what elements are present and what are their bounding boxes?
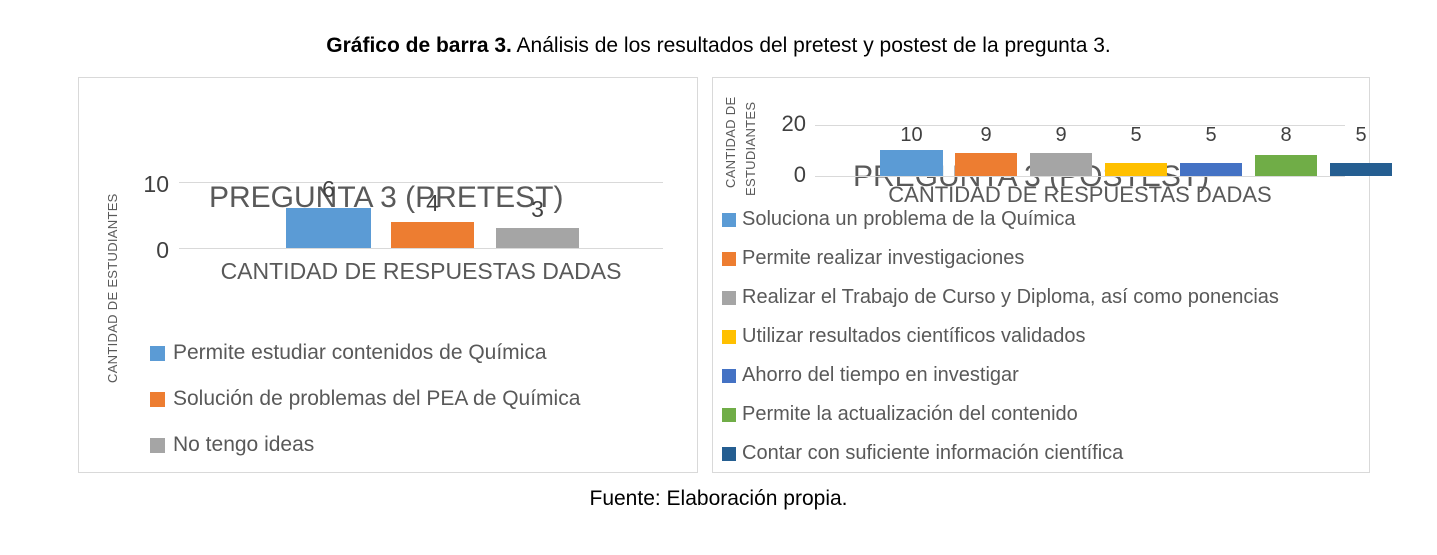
axis-baseline-pretest bbox=[179, 248, 663, 249]
legend-swatch-icon bbox=[150, 392, 165, 407]
legend-item-pretest-1[interactable]: Permite estudiar contenidos de Química bbox=[150, 330, 580, 376]
legend-swatch-icon bbox=[722, 369, 736, 383]
legend-item-postest-2[interactable]: Permite realizar investigaciones bbox=[722, 239, 1279, 278]
y-tick-bottom-postest: 0 bbox=[751, 162, 806, 188]
legend-item-postest-7[interactable]: Contar con suficiente información cientí… bbox=[722, 434, 1279, 473]
bar-postest-5 bbox=[1180, 163, 1242, 176]
bar-value-pretest-3: 3 bbox=[496, 196, 579, 223]
bar-pretest-2 bbox=[391, 222, 474, 248]
legend-swatch-icon bbox=[722, 330, 736, 344]
legend-label-pretest-2: Solución de problemas del PEA de Química bbox=[173, 387, 580, 411]
legend-label-postest-1: Soluciona un problema de la Química bbox=[742, 208, 1076, 231]
legend-swatch-icon bbox=[150, 346, 165, 361]
bar-postest-4 bbox=[1105, 163, 1167, 176]
bar-value-pretest-1: 6 bbox=[286, 176, 371, 203]
y-tick-bottom-pretest: 0 bbox=[109, 237, 169, 264]
bar-postest-1 bbox=[880, 150, 943, 176]
legend-item-pretest-3[interactable]: No tengo ideas bbox=[150, 422, 580, 468]
bar-value-postest-2: 9 bbox=[955, 124, 1017, 147]
legend-label-pretest-3: No tengo ideas bbox=[173, 433, 314, 457]
bar-postest-6 bbox=[1255, 155, 1317, 176]
legend-item-postest-1[interactable]: Soluciona un problema de la Química bbox=[722, 200, 1279, 239]
legend-label-postest-2: Permite realizar investigaciones bbox=[742, 247, 1024, 270]
y-tick-top-pretest: 10 bbox=[109, 171, 169, 198]
bar-postest-7 bbox=[1330, 163, 1392, 176]
bar-postest-2 bbox=[955, 153, 1017, 176]
bar-value-postest-3: 9 bbox=[1030, 124, 1092, 147]
legend-swatch-icon bbox=[150, 438, 165, 453]
legend-label-postest-4: Utilizar resultados científicos validado… bbox=[742, 325, 1086, 348]
y-axis-title-postest-line1: CANTIDAD DE bbox=[723, 97, 738, 188]
legend-swatch-icon bbox=[722, 408, 736, 422]
legend-label-postest-6: Permite la actualización del contenido bbox=[742, 403, 1078, 426]
legend-label-postest-3: Realizar el Trabajo de Curso y Diploma, … bbox=[742, 286, 1279, 309]
bar-pretest-3 bbox=[496, 228, 579, 248]
bar-value-pretest-2: 4 bbox=[391, 190, 474, 217]
legend-item-pretest-2[interactable]: Solución de problemas del PEA de Química bbox=[150, 376, 580, 422]
legend-item-postest-4[interactable]: Utilizar resultados científicos validado… bbox=[722, 317, 1279, 356]
bar-value-postest-4: 5 bbox=[1105, 124, 1167, 147]
y-tick-top-postest: 20 bbox=[751, 111, 806, 137]
figure-caption-text: Análisis de los resultados del pretest y… bbox=[512, 34, 1111, 57]
figure-caption: Gráfico de barra 3. Análisis de los resu… bbox=[0, 34, 1437, 58]
legend-label-postest-5: Ahorro del tiempo en investigar bbox=[742, 364, 1019, 387]
y-axis-title-pretest: CANTIDAD DE ESTUDIANTES bbox=[105, 193, 120, 383]
figure-caption-bold: Gráfico de barra 3. bbox=[326, 34, 512, 57]
x-axis-title-pretest: CANTIDAD DE RESPUESTAS DADAS bbox=[179, 258, 663, 285]
legend-swatch-icon bbox=[722, 213, 736, 227]
legend-swatch-icon bbox=[722, 291, 736, 305]
legend-postest: Soluciona un problema de la Química Perm… bbox=[722, 200, 1279, 473]
bar-value-postest-1: 10 bbox=[880, 124, 943, 147]
axis-baseline-postest bbox=[815, 176, 1345, 177]
legend-item-postest-5[interactable]: Ahorro del tiempo en investigar bbox=[722, 356, 1279, 395]
legend-item-postest-6[interactable]: Permite la actualización del contenido bbox=[722, 395, 1279, 434]
figure-source: Fuente: Elaboración propia. bbox=[0, 487, 1437, 511]
legend-label-postest-7: Contar con suficiente información cientí… bbox=[742, 442, 1123, 465]
legend-pretest: Permite estudiar contenidos de Química S… bbox=[150, 330, 580, 468]
legend-swatch-icon bbox=[722, 252, 736, 266]
bar-postest-3 bbox=[1030, 153, 1092, 176]
bar-value-postest-6: 8 bbox=[1255, 124, 1317, 147]
bar-value-postest-5: 5 bbox=[1180, 124, 1242, 147]
legend-item-postest-3[interactable]: Realizar el Trabajo de Curso y Diploma, … bbox=[722, 278, 1279, 317]
legend-label-pretest-1: Permite estudiar contenidos de Química bbox=[173, 341, 547, 365]
legend-swatch-icon bbox=[722, 447, 736, 461]
bar-value-postest-7: 5 bbox=[1330, 124, 1392, 147]
gridline-top-pretest bbox=[179, 182, 663, 183]
bar-pretest-1 bbox=[286, 208, 371, 248]
